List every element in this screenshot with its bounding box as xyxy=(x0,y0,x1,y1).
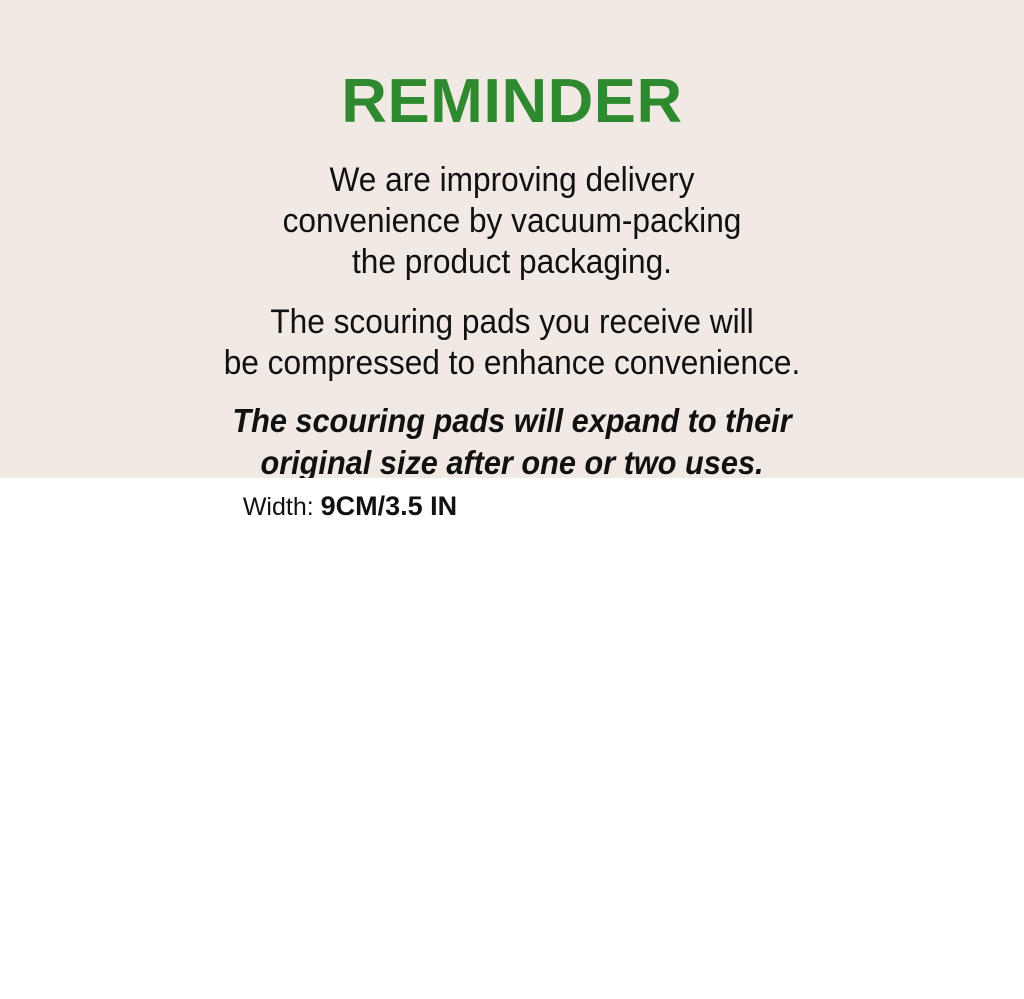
reminder-notice-panel: REMINDER We are improving deliveryconven… xyxy=(0,0,1024,478)
notice-paragraph-expand-emphasis: The scouring pads will expand to theiror… xyxy=(36,400,988,484)
page-title: REMINDER xyxy=(0,68,1024,136)
notice-paragraph-vacuum-packing: We are improving deliveryconvenience by … xyxy=(36,160,988,283)
pad-width-label: Width: 9CM/3.5 IN xyxy=(150,491,550,522)
pad-width-label-value: 9CM/3.5 IN xyxy=(321,491,458,521)
notice-paragraph-compressed: The scouring pads you receive willbe com… xyxy=(36,302,988,384)
dimensions-spec-panel: Width: 9CM/3.5 IN Length: 14CM/5.5 IN CO… xyxy=(0,478,1024,999)
product-infographic: REMINDER We are improving deliveryconven… xyxy=(0,0,1024,999)
pad-width-label-prefix: Width: xyxy=(243,493,321,521)
